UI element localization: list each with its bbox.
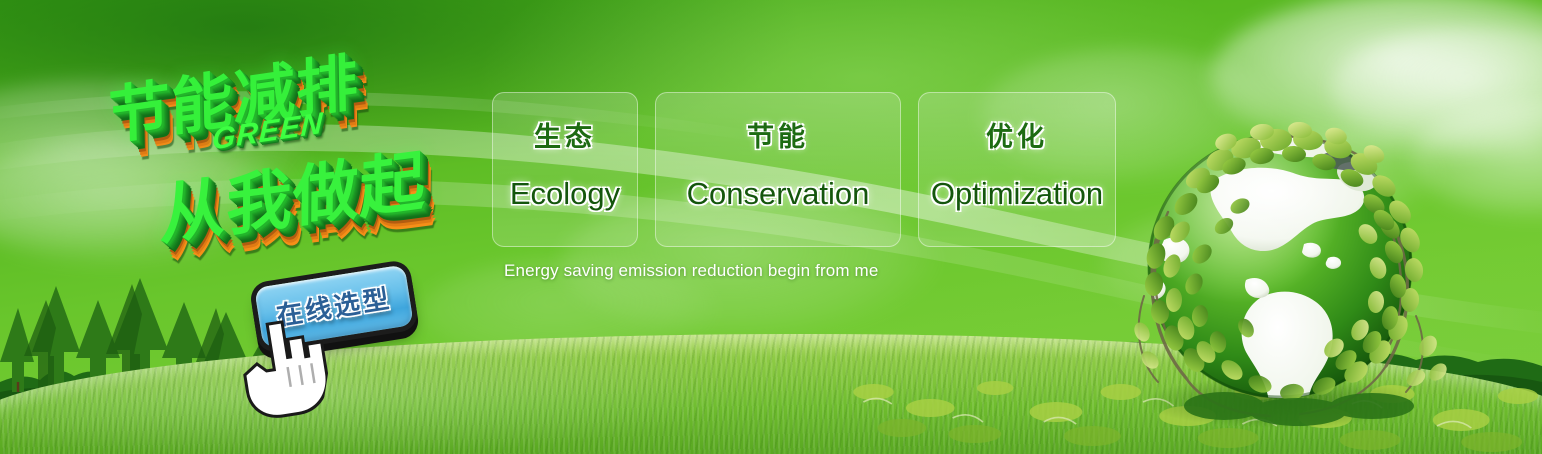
feature-card-cn-label: 优化 [986, 115, 1048, 154]
feature-card-en-label: Ecology [510, 176, 620, 212]
online-selection-label: 在线选型 [274, 278, 394, 333]
banner-tagline: Energy saving emission reduction begin f… [504, 261, 878, 281]
feature-card-ecology[interactable]: 生态 Ecology [492, 92, 638, 247]
feature-card-cn-label: 生态 [534, 115, 596, 154]
feature-card-en-label: Optimization [931, 176, 1103, 212]
feature-card-list: 生态 Ecology 节能 Conservation 优化 Optimizati… [492, 92, 1116, 247]
feature-card-conservation[interactable]: 节能 Conservation [655, 92, 901, 247]
feature-card-cn-label: 节能 [747, 115, 809, 154]
feature-card-en-label: Conservation [687, 176, 870, 212]
energy-saving-banner: 节能减排 GREEN 从我做起 在线选型 生态 Ecology 节能 Conse… [0, 0, 1542, 454]
feature-card-optimization[interactable]: 优化 Optimization [918, 92, 1116, 247]
grass-field-icon [0, 334, 1542, 454]
